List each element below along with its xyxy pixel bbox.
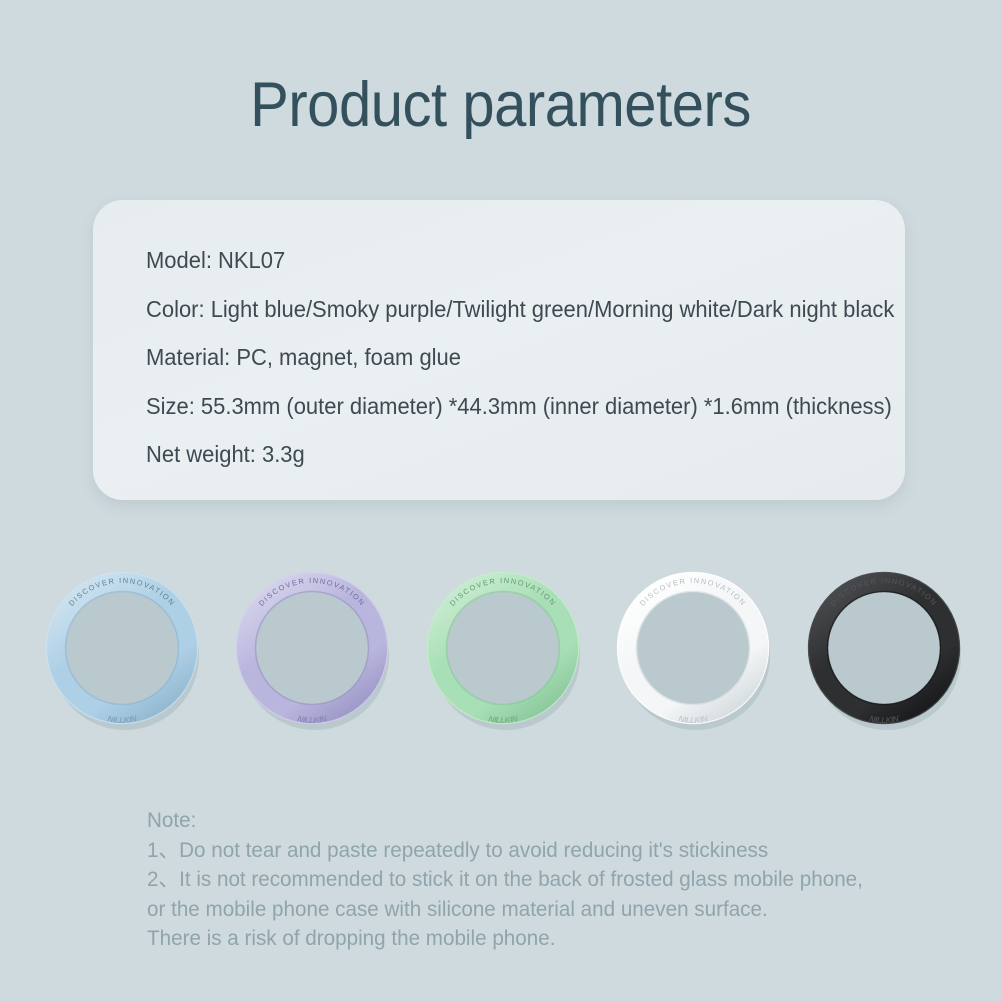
ring-illustration-morning-white: DISCOVER INNOVATIONNILLKIN	[614, 566, 772, 736]
product-ring: DISCOVER INNOVATIONNILLKIN	[614, 566, 772, 736]
ring-illustration-smoky-purple: DISCOVER INNOVATIONNILLKIN	[233, 566, 391, 736]
notes-section: Note: 1、Do not tear and paste repeatedly…	[147, 806, 907, 954]
spec-line-color: Color: Light blue/Smoky purple/Twilight …	[146, 285, 871, 334]
notes-heading: Note:	[147, 806, 877, 836]
product-ring: DISCOVER INNOVATIONNILLKIN	[805, 566, 963, 736]
product-ring: DISCOVER INNOVATIONNILLKIN	[424, 566, 582, 736]
note-item-2-risk: There is a risk of dropping the mobile p…	[147, 924, 877, 954]
ring-illustration-light-blue: DISCOVER INNOVATIONNILLKIN	[43, 566, 201, 736]
ring-illustration-dark-night-black: DISCOVER INNOVATIONNILLKIN	[805, 566, 963, 736]
spec-line-net-weight: Net weight: 3.3g	[146, 430, 871, 479]
note-item-1: 1、Do not tear and paste repeatedly to av…	[147, 836, 877, 866]
spec-card: Model: NKL07 Color: Light blue/Smoky pur…	[93, 200, 905, 500]
spec-line-material: Material: PC, magnet, foam glue	[146, 333, 871, 382]
page-title: Product parameters	[40, 72, 961, 138]
product-ring-gallery: DISCOVER INNOVATIONNILLKINDISCOVER INNOV…	[0, 566, 1001, 746]
ring-illustration-twilight-green: DISCOVER INNOVATIONNILLKIN	[424, 566, 582, 736]
note-item-2: 2、It is not recommended to stick it on t…	[147, 865, 877, 895]
spec-line-model: Model: NKL07	[146, 236, 871, 285]
spec-line-size: Size: 55.3mm (outer diameter) *44.3mm (i…	[146, 382, 871, 431]
product-ring: DISCOVER INNOVATIONNILLKIN	[233, 566, 391, 736]
product-ring: DISCOVER INNOVATIONNILLKIN	[43, 566, 201, 736]
note-item-2-cont: or the mobile phone case with silicone m…	[147, 895, 877, 925]
